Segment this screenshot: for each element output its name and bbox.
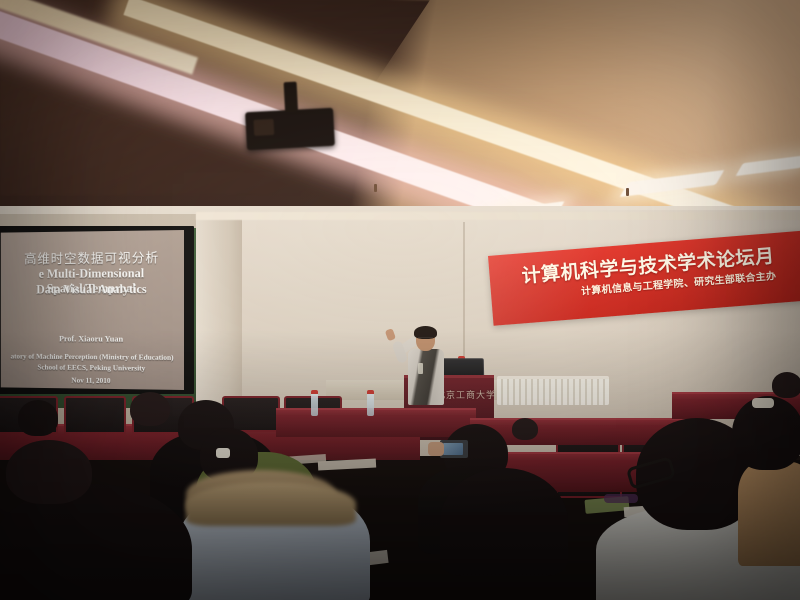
slide-affiliation-line1: atory of Machine Perception (Ministry of… <box>1 352 184 362</box>
small-object <box>604 494 638 503</box>
speaker-badge <box>418 363 423 374</box>
speaker-torso <box>408 349 444 405</box>
audience-head <box>6 440 92 504</box>
presentation-slide: 高维时空数据可视分析 e Multi-Dimensional Spatial/T… <box>1 230 184 390</box>
speaker-forearm <box>391 340 408 364</box>
audience-tan-coat <box>738 462 800 566</box>
water-bottle <box>367 390 374 416</box>
sprinkler-head <box>374 184 377 192</box>
radiator <box>497 376 609 405</box>
audience-head <box>512 418 538 440</box>
sprinkler-head <box>626 188 629 196</box>
audience-head <box>130 392 170 426</box>
audience-head <box>18 400 58 436</box>
lecture-hall-photo: 高维时空数据可视分析 e Multi-Dimensional Spatial/T… <box>0 0 800 600</box>
fur-hood-trim <box>186 482 356 526</box>
paper-sheet <box>318 458 376 470</box>
speaker <box>392 325 456 405</box>
hair-clip <box>752 398 774 408</box>
ceiling-projector <box>245 108 335 151</box>
audience-head <box>772 372 800 398</box>
audience-hand <box>428 442 444 456</box>
slide-author: Prof. Xiaoru Yuan <box>1 333 184 344</box>
hair-clip <box>216 448 230 458</box>
slide-affiliation-line2: School of EECS, Peking University <box>1 362 184 373</box>
slide-chinese-title: 高维时空数据可视分析 <box>1 247 184 267</box>
slide-english-title-line2: Data Visual Analytics <box>1 282 184 297</box>
desk-panel-front-right <box>276 415 476 437</box>
water-bottle <box>311 390 318 416</box>
projection-screen: 高维时空数据可视分析 e Multi-Dimensional Spatial/T… <box>1 230 184 390</box>
lecture-seat <box>64 396 126 434</box>
slide-date: Nov 11, 2010 <box>1 375 184 386</box>
audience-head-foreground <box>440 468 568 576</box>
speaker-glasses-icon <box>418 337 433 342</box>
camera-screen <box>443 443 463 455</box>
camera <box>440 440 468 458</box>
